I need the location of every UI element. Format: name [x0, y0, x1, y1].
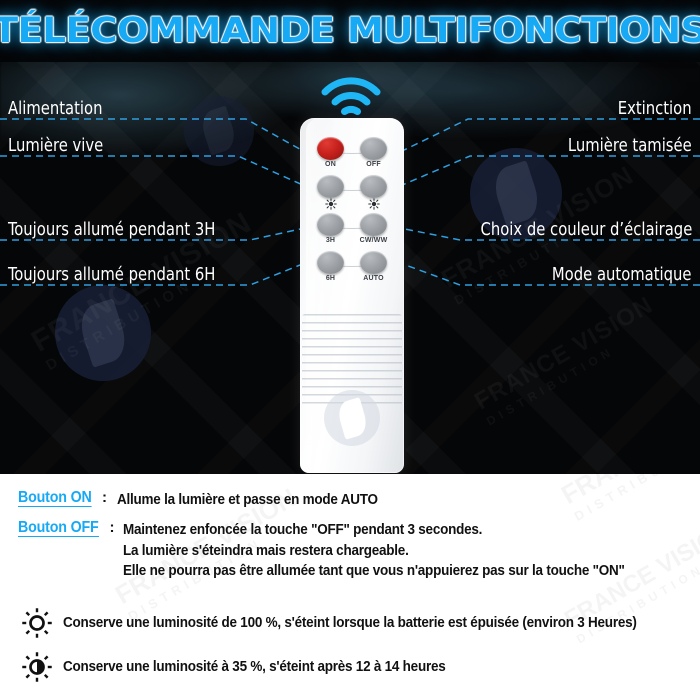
brightness-row-35: Conserve une luminosité à 35 %, s'éteint… [20, 650, 474, 684]
button-label: OFF [366, 161, 381, 168]
sun-half-brightness-icon [20, 650, 54, 684]
callout-left-6h: Toujours allumé pendant 6H [8, 265, 215, 285]
button-label: 6H [326, 275, 335, 282]
note-text-bouton-on: Allume la lumière et passe en mode AUTO [117, 490, 378, 511]
button-label: AUTO [363, 275, 384, 282]
watermark-brand-text: FRANCE VISION DISTRIBUTION [556, 474, 700, 524]
callout-right-choix-couleur: Choix de couleur d’éclairage [480, 220, 692, 240]
sun-dim-icon [368, 198, 380, 210]
remote-button-6h[interactable]: 6H [317, 251, 344, 274]
button-cap [360, 251, 387, 274]
callout-left-3h: Toujours allumé pendant 3H [8, 220, 215, 240]
button-label: CW/WW [360, 237, 388, 244]
button-cap [360, 137, 387, 160]
button-label: 3H [326, 237, 335, 244]
button-cap [360, 175, 387, 198]
button-cap [317, 175, 344, 198]
callout-right-mode-auto: Mode automatique [552, 265, 692, 285]
remote-button-auto[interactable]: AUTO [360, 251, 387, 274]
brightness-text-35: Conserve une luminosité à 35 %, s'éteint… [63, 659, 446, 675]
page-title: TÉLÉCOMMANDE MULTIFONCTIONS [0, 11, 700, 51]
note-bouton-on: Bouton ON : Allume la lumière et passe e… [18, 490, 397, 511]
note-text-bouton-off-line3: Elle ne pourra pas être allumée tant que… [123, 561, 625, 582]
button-cap [317, 251, 344, 274]
button-cap [360, 213, 387, 236]
note-bouton-off: Bouton OFF : Maintenez enfoncée la touch… [18, 520, 662, 582]
header-title-bar: TÉLÉCOMMANDE MULTIFONCTIONS [0, 0, 700, 62]
button-label: ON [325, 161, 336, 168]
remote-control: ON OFF [300, 118, 404, 473]
sun-full-brightness-icon [20, 606, 54, 640]
brightness-row-100: Conserve une luminosité de 100 %, s'étei… [20, 606, 680, 640]
callout-left-alimentation: Alimentation [8, 99, 102, 119]
note-key-bouton-off: Bouton OFF [18, 520, 99, 537]
note-text-bouton-off-line2: La lumière s'éteindra mais restera charg… [123, 541, 625, 562]
remote-button-off[interactable]: OFF [360, 137, 387, 160]
note-key-bouton-on: Bouton ON [18, 490, 92, 507]
button-cap [317, 213, 344, 236]
white-lower-panel: FRANCE VISION DISTRIBUTION FRANCE VISION… [0, 474, 700, 700]
callout-left-lumiere-vive: Lumière vive [8, 136, 103, 156]
remote-button-brightness-down[interactable] [360, 175, 387, 198]
remote-leaf-watermark [324, 390, 380, 446]
remote-button-3h[interactable]: 3H [317, 213, 344, 236]
callout-right-lumiere-tamisee: Lumière tamisée [568, 136, 692, 156]
brightness-text-100: Conserve une luminosité de 100 %, s'étei… [63, 615, 637, 631]
sun-bright-icon [325, 198, 337, 210]
dark-upper-panel: FRANCE VISION DISTRIBUTION FRANCE VISION… [0, 0, 700, 474]
note-colon: : [110, 520, 115, 536]
remote-button-cw-ww[interactable]: CW/WW [360, 213, 387, 236]
callout-right-extinction: Extinction [618, 99, 692, 119]
button-cap [317, 137, 344, 160]
remote-button-on[interactable]: ON [317, 137, 344, 160]
note-text-bouton-off-line1: Maintenez enfoncée la touche "OFF" penda… [123, 520, 625, 541]
wifi-signal-icon [318, 70, 384, 116]
note-colon: : [102, 490, 107, 506]
remote-button-brightness-up[interactable] [317, 175, 344, 198]
